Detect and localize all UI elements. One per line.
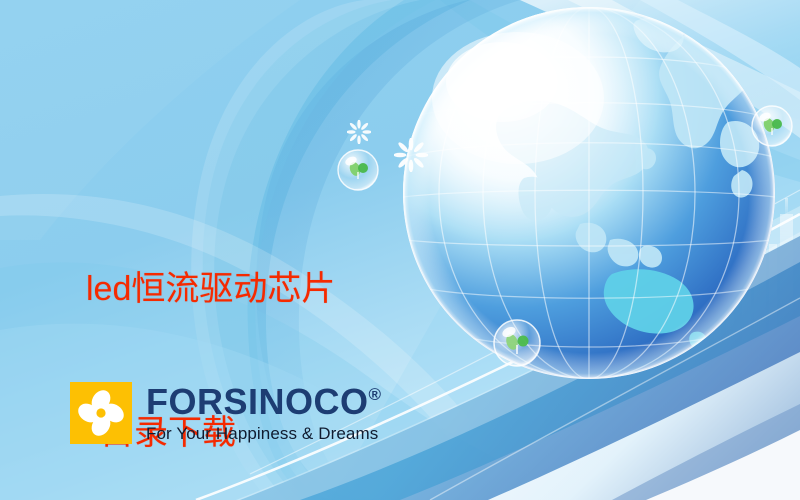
globe-icon: [398, 2, 780, 384]
registered-trademark-icon: ®: [369, 386, 382, 403]
headline-line-1: led恒流驱动芯片: [86, 265, 416, 313]
asterisk-sparkle-icon-2: [394, 138, 428, 172]
pinwheel-petals-icon: [70, 382, 132, 444]
company-logo[interactable]: FORSINOCO® For Your Happiness & Dreams: [70, 382, 382, 444]
logo-mark: [70, 382, 132, 444]
brand-tagline: For Your Happiness & Dreams: [146, 425, 382, 442]
headline: led恒流驱动芯片 目录下载: [86, 168, 416, 500]
asterisk-sparkle-icon-1: [347, 120, 371, 144]
bubble-eco-globe-icon-2: [492, 318, 542, 368]
globe-graphic: [398, 2, 780, 384]
logo-text: FORSINOCO® For Your Happiness & Dreams: [146, 384, 382, 442]
bubble-eco-globe-icon-3: [750, 104, 794, 148]
promo-banner: led恒流驱动芯片 目录下载 FORSINOCO® For Your Happi…: [0, 0, 800, 500]
brand-name: FORSINOCO®: [146, 384, 382, 420]
brand-name-text: FORSINOCO: [146, 384, 369, 420]
